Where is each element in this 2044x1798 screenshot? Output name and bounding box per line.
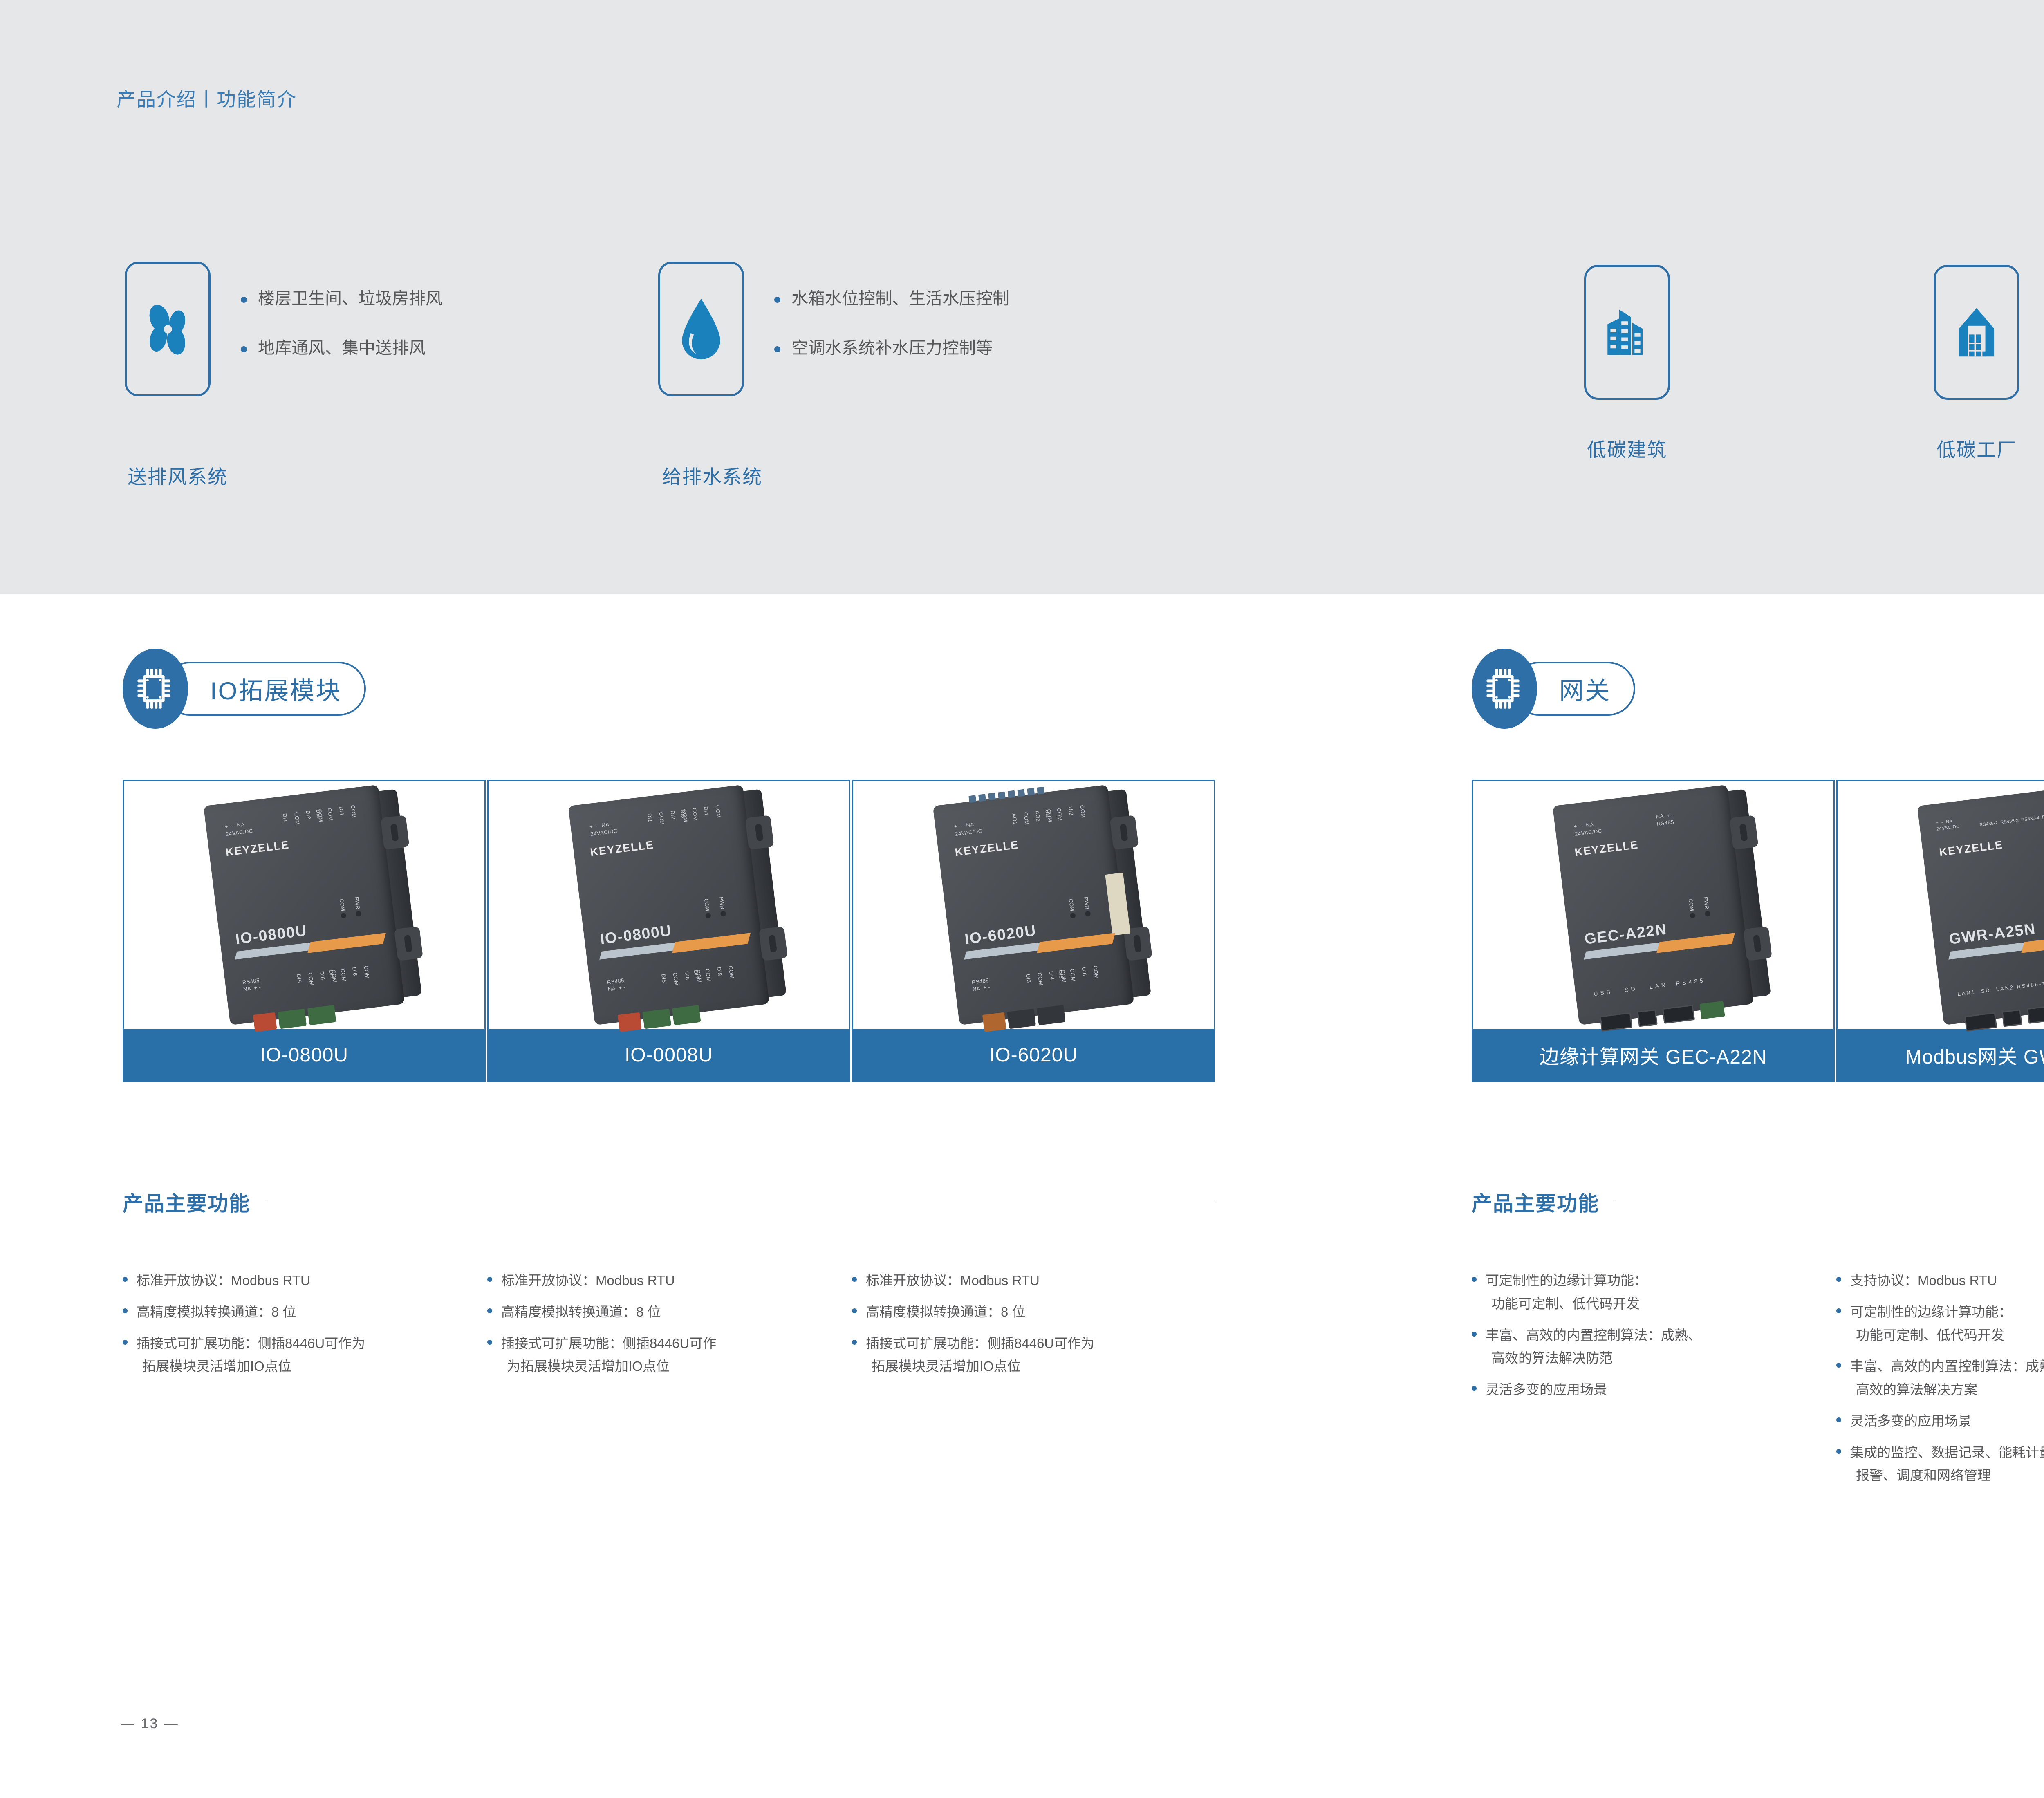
device-rs485-pins: RS485 NA + - <box>607 976 626 993</box>
features-title-io: 产品主要功能 <box>123 1187 1215 1217</box>
device-leds: COMPWR <box>1068 896 1091 918</box>
chip-icon-badge <box>1472 649 1537 729</box>
product-card-io-6020u[interactable]: KEYZELLE + - NA 24VAC/DC AO1COMAO2COM UI… <box>852 780 1215 1082</box>
scenario-water-supply: 水箱水位控制、生活水压控制 空调水系统补水压力控制等 <box>658 262 1009 396</box>
device-render: KEYZELLE + - NA 24VAC/DC DI1COMDI2COM DI… <box>204 785 405 1025</box>
list-item: 楼层卫生间、垃圾房排风 <box>241 290 442 307</box>
water-drop-icon-box <box>658 262 744 396</box>
product-card-io-0008u[interactable]: KEYZELLE + - NA 24VAC/DC DI1COMDI2COM DI… <box>487 780 850 1082</box>
list-item: 丰富、高效的内置控制算法：成熟、高效的算法解决方案 <box>1836 1355 2044 1402</box>
list-item: 高精度模拟转换通道：8 位 <box>852 1301 1195 1324</box>
list-item: 标准开放协议：Modbus RTU <box>123 1269 466 1292</box>
product-label: IO-6020U <box>853 1029 1214 1081</box>
carbon-item-factory: 低碳工厂 <box>1919 265 2034 462</box>
list-item: 高精度模拟转换通道：8 位 <box>123 1301 466 1324</box>
features-title-text: 产品主要功能 <box>1472 1187 1599 1217</box>
list-item: 高精度模拟转换通道：8 位 <box>487 1301 831 1324</box>
features-title-text: 产品主要功能 <box>123 1187 250 1217</box>
product-card-gwr-a25n[interactable]: KEYZELLE + - NA 24VAC/DC RS485-2 RS485-3… <box>1836 780 2044 1082</box>
list-item: 支持协议：Modbus RTU <box>1836 1269 2044 1292</box>
factory-icon-box <box>1934 265 2019 400</box>
divider-rule <box>266 1202 1215 1202</box>
device-render: KEYZELLE + - NA 24VAC/DC NA + - RS485 CO… <box>1553 785 1754 1025</box>
device-leds: COMPWR <box>1688 896 1711 918</box>
device-rs485-pins: RS485 NA + - <box>971 976 991 993</box>
list-item: 灵活多变的应用场景 <box>1472 1378 1815 1402</box>
divider-rule <box>1615 1202 2044 1202</box>
product-image-io-0008u: KEYZELLE + - NA 24VAC/DC DI1COMDI2COM DI… <box>489 781 849 1029</box>
factory-icon <box>1952 304 2001 361</box>
brochure-spread: 产品介绍丨功能简介 产品介绍丨功能简介 楼层卫生间、垃圾房排风 地库通风、集中送… <box>0 0 2044 1798</box>
office-buildings-icon-box <box>1584 265 1670 400</box>
feature-column-3: 标准开放协议：Modbus RTU 高精度模拟转换通道：8 位 插接式可扩展功能… <box>852 1269 1195 1386</box>
carbon-item-building: 低碳建筑 <box>1570 265 1684 462</box>
list-item: 集成的监控、数据记录、能耗计量、报警、调度和网络管理 <box>1836 1441 2044 1488</box>
product-label: IO-0008U <box>489 1029 849 1081</box>
list-item: 空调水系统补水压力控制等 <box>774 340 1009 356</box>
chip-icon-badge <box>123 649 188 729</box>
product-label: Modbus网关 GWR-A25N <box>1838 1029 2044 1081</box>
scenario-ventilation-caption: 送排风系统 <box>128 461 228 489</box>
feature-column-gw-1: 可定制性的边缘计算功能：功能可定制、低代码开发 丰富、高效的内置控制算法：成熟、… <box>1472 1269 1815 1410</box>
feature-column-gw-2: 支持协议：Modbus RTU 可定制性的边缘计算功能：功能可定制、低代码开发 … <box>1836 1269 2044 1496</box>
scenario-ventilation-bullets: 楼层卫生间、垃圾房排风 地库通风、集中送排风 <box>241 262 442 356</box>
chip-icon <box>137 667 174 711</box>
product-image-gwr-a25n: KEYZELLE + - NA 24VAC/DC RS485-2 RS485-3… <box>1838 781 2044 1029</box>
scenario-ventilation: 楼层卫生间、垃圾房排风 地库通风、集中送排风 <box>125 262 442 396</box>
list-item: 插接式可扩展功能：侧插8446U可作为拓展模块灵活增加IO点位 <box>487 1332 831 1379</box>
list-item: 插接式可扩展功能：侧插8446U可作为拓展模块灵活增加IO点位 <box>123 1332 466 1379</box>
carbon-factory-caption: 低碳工厂 <box>1919 434 2034 462</box>
scenario-water-bullets: 水箱水位控制、生活水压控制 空调水系统补水压力控制等 <box>774 262 1009 356</box>
list-item: 标准开放协议：Modbus RTU <box>487 1269 831 1292</box>
list-item: 标准开放协议：Modbus RTU <box>852 1269 1195 1292</box>
chip-icon <box>1486 667 1523 711</box>
features-title-gateways: 产品主要功能 <box>1472 1187 2044 1217</box>
carbon-building-caption: 低碳建筑 <box>1570 434 1684 462</box>
product-image-io-6020u: KEYZELLE + - NA 24VAC/DC AO1COMAO2COM UI… <box>853 781 1214 1029</box>
list-item: 水箱水位控制、生活水压控制 <box>774 290 1009 307</box>
product-label: 边缘计算网关 GEC-A22N <box>1473 1029 1833 1081</box>
device-leds: COMPWR <box>338 896 362 918</box>
list-item: 丰富、高效的内置控制算法：成熟、高效的算法解决防范 <box>1472 1324 1815 1370</box>
fan-icon <box>138 300 197 359</box>
device-rs485-pins-top: NA + - RS485 <box>1656 811 1675 827</box>
fan-icon-box <box>125 262 211 396</box>
device-rs485-pins: RS485 NA + - <box>242 976 262 993</box>
list-item: 灵活多变的应用场景 <box>1836 1410 2044 1433</box>
feature-column-1: 标准开放协议：Modbus RTU 高精度模拟转换通道：8 位 插接式可扩展功能… <box>123 1269 466 1386</box>
office-buildings-icon <box>1602 304 1653 361</box>
section-title-io-modules-label: IO拓展模块 <box>163 662 366 716</box>
list-item: 可定制性的边缘计算功能：功能可定制、低代码开发 <box>1836 1301 2044 1347</box>
scenario-water-caption: 给排水系统 <box>662 461 762 489</box>
device-leds: COMPWR <box>703 896 727 918</box>
product-image-gec-a22n: KEYZELLE + - NA 24VAC/DC NA + - RS485 CO… <box>1473 781 1833 1029</box>
list-item: 地库通风、集中送排风 <box>241 340 442 356</box>
product-image-io-0800u: KEYZELLE + - NA 24VAC/DC DI1COMDI2COM DI… <box>124 781 484 1029</box>
product-card-io-0800u[interactable]: KEYZELLE + - NA 24VAC/DC DI1COMDI2COM DI… <box>123 780 486 1082</box>
page-number-left: — 13 — <box>121 1716 179 1732</box>
section-title-gateways: 网关 <box>1472 648 1635 730</box>
section-title-io-modules: IO拓展模块 <box>123 648 366 730</box>
water-drop-icon <box>677 296 726 362</box>
product-label: IO-0800U <box>124 1029 484 1081</box>
header-left-title: 产品介绍丨功能简介 <box>117 84 297 112</box>
product-card-gec-a22n[interactable]: KEYZELLE + - NA 24VAC/DC NA + - RS485 CO… <box>1472 780 1835 1082</box>
device-render: KEYZELLE + - NA 24VAC/DC AO1COMAO2COM UI… <box>933 785 1134 1025</box>
list-item: 可定制性的边缘计算功能：功能可定制、低代码开发 <box>1472 1269 1815 1316</box>
device-render: KEYZELLE + - NA 24VAC/DC DI1COMDI2COM DI… <box>568 785 770 1025</box>
list-item: 插接式可扩展功能：侧插8446U可作为拓展模块灵活增加IO点位 <box>852 1332 1195 1379</box>
feature-column-2: 标准开放协议：Modbus RTU 高精度模拟转换通道：8 位 插接式可扩展功能… <box>487 1269 831 1386</box>
device-render: KEYZELLE + - NA 24VAC/DC RS485-2 RS485-3… <box>1917 785 2044 1025</box>
